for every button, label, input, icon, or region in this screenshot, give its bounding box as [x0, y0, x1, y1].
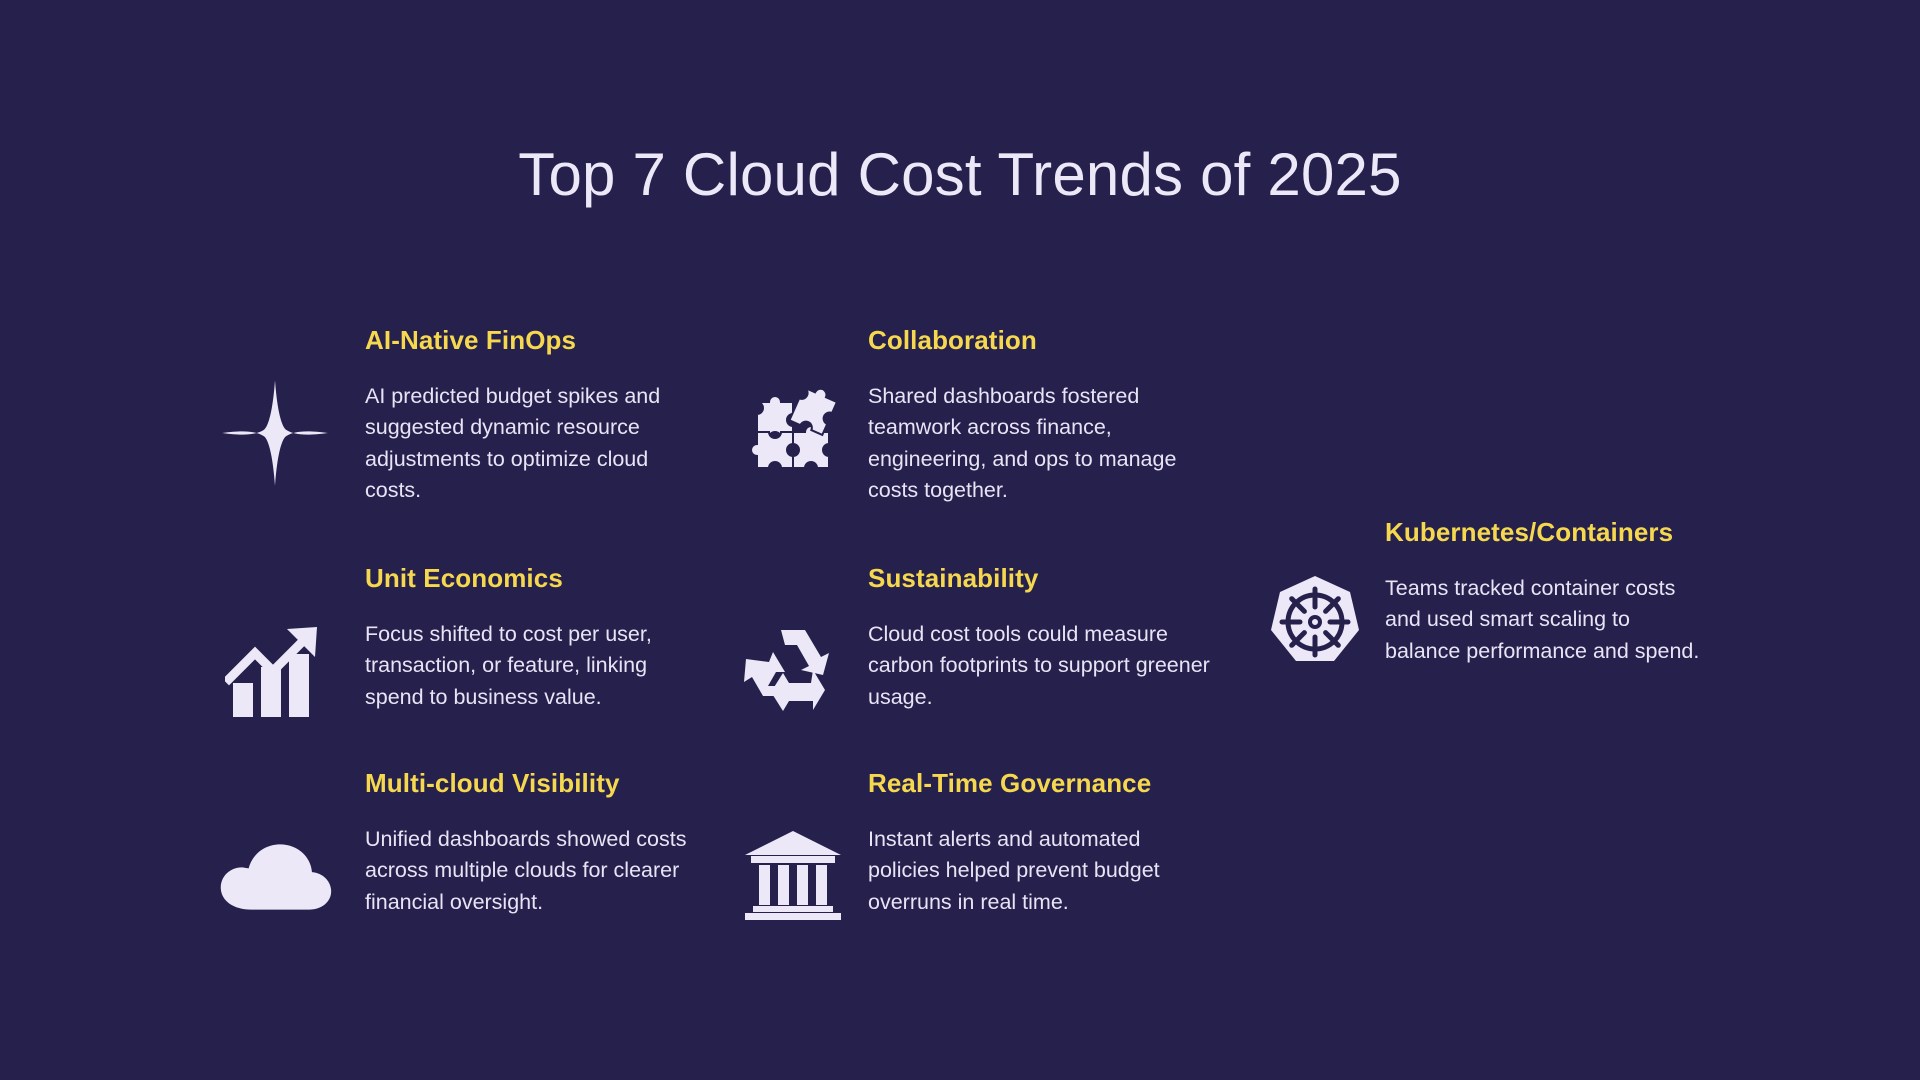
trend-heading: Kubernetes/Containers — [1385, 517, 1705, 548]
slide-canvas: Top 7 Cloud Cost Trends of 2025 AI-Nativ… — [0, 0, 1920, 1080]
puzzle-pieces-icon — [738, 375, 848, 485]
trend-body: AI predicted budget spikes and suggested… — [365, 381, 705, 506]
trend-body: Unified dashboards showed costs across m… — [365, 824, 705, 918]
trend-heading: Unit Economics — [365, 563, 705, 594]
trend-text-block: Unit Economics Focus shifted to cost per… — [365, 563, 705, 713]
page-title: Top 7 Cloud Cost Trends of 2025 — [0, 140, 1920, 209]
trend-body: Focus shifted to cost per user, transact… — [365, 619, 705, 713]
trend-text-block: Sustainability Cloud cost tools could me… — [868, 563, 1213, 713]
trend-text-block: Kubernetes/Containers Teams tracked cont… — [1385, 517, 1705, 667]
trend-body: Cloud cost tools could measure carbon fo… — [868, 619, 1213, 713]
trend-heading: Real-Time Governance — [868, 768, 1213, 799]
kubernetes-icon — [1260, 567, 1370, 677]
bank-building-icon — [738, 818, 848, 928]
trend-heading: AI-Native FinOps — [365, 325, 705, 356]
sparkle-icon — [215, 373, 335, 493]
trend-heading: Collaboration — [868, 325, 1213, 356]
trend-heading: Sustainability — [868, 563, 1213, 594]
trend-text-block: Multi-cloud Visibility Unified dashboard… — [365, 768, 705, 918]
trend-heading: Multi-cloud Visibility — [365, 768, 705, 799]
trend-text-block: Real-Time Governance Instant alerts and … — [868, 768, 1213, 918]
recycle-icon — [738, 613, 848, 723]
growth-chart-icon — [215, 611, 335, 731]
cloud-icon — [215, 816, 335, 936]
trend-text-block: Collaboration Shared dashboards fostered… — [868, 325, 1213, 506]
trend-body: Teams tracked container costs and used s… — [1385, 573, 1705, 667]
trend-text-block: AI-Native FinOps AI predicted budget spi… — [365, 325, 705, 506]
trend-body: Shared dashboards fostered teamwork acro… — [868, 381, 1213, 506]
trend-body: Instant alerts and automated policies he… — [868, 824, 1213, 918]
